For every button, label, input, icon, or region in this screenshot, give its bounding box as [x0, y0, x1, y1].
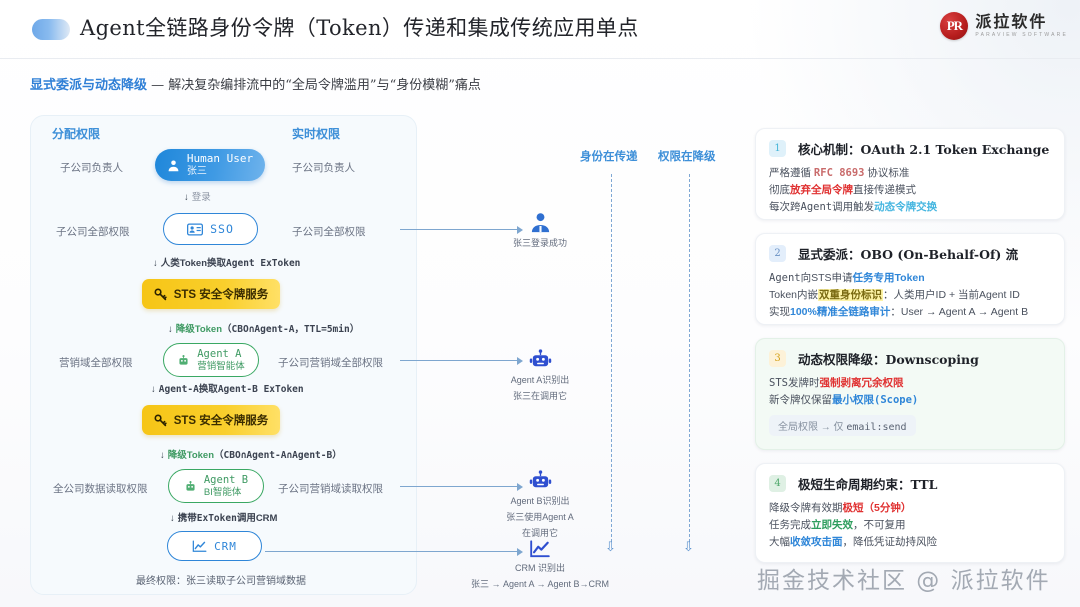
left-label-3: 全公司数据读取权限 — [53, 481, 148, 496]
robot-icon — [177, 354, 190, 367]
rail-scope — [689, 174, 690, 542]
left-label-0: 子公司负责人 — [60, 160, 123, 175]
id-card-icon — [187, 223, 203, 236]
node-sso-label: SSO — [210, 222, 234, 236]
event-agent-b-line-0: Agent B识别出 — [510, 495, 569, 508]
user-icon — [167, 159, 180, 172]
header-accent-dot — [32, 19, 70, 40]
event-agent-a-line-1: 张三在调用它 — [513, 390, 567, 403]
key-icon — [154, 414, 167, 427]
step-login: ↓登录 — [184, 189, 211, 203]
rail-identity — [611, 174, 612, 542]
card-1-header: 1 核心机制：OAuth 2.1 Token Exchange — [769, 139, 1051, 158]
right-label-2: 子公司营销域全部权限 — [278, 355, 383, 370]
card-1-badge: 1 — [769, 140, 786, 157]
right-label-0: 子公司负责人 — [292, 160, 355, 175]
robot-icon — [184, 480, 197, 493]
event-agent-b: Agent B识别出 张三使用Agent A 在调用它 — [492, 469, 588, 540]
event-login: 张三登录成功 — [505, 211, 575, 250]
subtitle: 显式委派与动态降级 — 解决复杂编排流中的“全局令牌滥用”与“身份模糊”痛点 — [30, 74, 481, 93]
event-agent-b-line-1: 张三使用Agent A — [506, 511, 574, 524]
card-4-line-2: 任务完成立即失效，不可复用 — [769, 517, 1051, 534]
node-crm-label: CRM — [214, 540, 237, 553]
node-human-user-title: Human User — [187, 152, 253, 165]
node-human-user[interactable]: Human User 张三 — [155, 149, 265, 181]
robot-icon — [529, 348, 552, 371]
event-agent-a: Agent A识别出 张三在调用它 — [500, 348, 580, 403]
card-explicit-delegation[interactable]: 2 显式委派：OBO (On-Behalf-Of) 流 Agent向STS申请任… — [755, 233, 1065, 325]
card-2-badge: 2 — [769, 245, 786, 262]
node-human-user-sub: 张三 — [187, 166, 207, 178]
watermark: 掘金技术社区 @ 派拉软件 — [757, 561, 1051, 595]
card-4-badge: 4 — [769, 475, 786, 492]
card-core-mechanism[interactable]: 1 核心机制：OAuth 2.1 Token Exchange 严格遵循 RFC… — [755, 128, 1065, 220]
left-label-1: 子公司全部权限 — [56, 224, 130, 239]
card-ttl[interactable]: 4 极短生命周期约束：TTL 降级令牌有效期极短（5分钟） 任务完成立即失效，不… — [755, 463, 1065, 563]
event-login-line-0: 张三登录成功 — [513, 237, 567, 250]
node-agent-b-title: Agent B — [204, 474, 248, 487]
node-sts-1[interactable]: STS 安全令牌服务 — [142, 279, 280, 309]
card-2-line-1: Agent向STS申请任务专用Token — [769, 270, 1051, 287]
logo-text: 派拉软件 PARAVIEW SOFTWARE — [975, 14, 1068, 38]
final-permission-note: 最终权限：张三读取子公司营销域数据 — [136, 572, 306, 587]
card-2-header: 2 显式委派：OBO (On-Behalf-Of) 流 — [769, 244, 1051, 263]
card-downscoping[interactable]: 3 动态权限降级：Downscoping STS发牌时强制剥离冗余权限 新令牌仅… — [755, 338, 1065, 450]
logo-mark-icon: PR — [940, 12, 968, 40]
event-agent-a-line-0: Agent A识别出 — [511, 374, 570, 387]
node-agent-a-sub: 营销智能体 — [197, 361, 245, 372]
robot-icon — [529, 469, 552, 492]
event-crm: CRM 识别出 张三 → Agent A → Agent B→CRM — [480, 540, 600, 591]
card-4-line-1: 降级令牌有效期极短（5分钟） — [769, 500, 1051, 517]
logo-name-cn: 派拉软件 — [975, 14, 1068, 30]
step-exchange-1: ↓人类Token换取Agent ExToken — [153, 255, 300, 269]
node-agent-b-sub: BI智能体 — [204, 487, 241, 498]
header: Agent全链路身份令牌（Token）传递和集成传统应用单点 PR 派拉软件 P… — [0, 0, 1080, 58]
right-label-1: 子公司全部权限 — [292, 224, 366, 239]
step-downscope-2: ↓降级Token（CBO∩Agent-A∩Agent-B） — [160, 447, 342, 461]
left-label-2: 营销域全部权限 — [59, 355, 133, 370]
node-sts-1-label: STS 安全令牌服务 — [174, 286, 269, 302]
subtitle-rest: — 解决复杂编排流中的“全局令牌滥用”与“身份模糊”痛点 — [151, 78, 481, 93]
card-1-line-3: 每次跨Agent调用触发动态令牌交换 — [769, 199, 1051, 216]
rail-header-identity: 身份在传递 — [580, 148, 638, 164]
header-divider — [0, 58, 1080, 59]
event-agent-b-line-2: 在调用它 — [522, 527, 558, 540]
step-exchange-2: ↓Agent-A换取Agent-B ExToken — [151, 381, 304, 395]
node-crm[interactable]: CRM — [167, 531, 262, 561]
card-1-line-2: 彻底放弃全局令牌直接传递模式 — [769, 182, 1051, 199]
event-crm-line-0: CRM 识别出 — [515, 562, 565, 575]
node-sso[interactable]: SSO — [163, 213, 258, 245]
card-4-line-3: 大幅收敛攻击面，降低凭证劫持风险 — [769, 534, 1051, 551]
subtitle-lead: 显式委派与动态降级 — [30, 78, 147, 93]
card-2-line-2: Token内嵌双重身份标识：人类用户ID + 当前Agent ID — [769, 287, 1051, 304]
card-3-header: 3 动态权限降级：Downscoping — [769, 349, 1051, 368]
rail-scope-arrow-icon: ⇩ — [683, 540, 694, 553]
node-sts-2-label: STS 安全令牌服务 — [174, 412, 269, 428]
card-1-line-1: 严格遵循 RFC 8693 协议标准 — [769, 165, 1051, 182]
step-call-crm: ↓携带ExToken调用CRM — [170, 510, 277, 524]
page-title: Agent全链路身份令牌（Token）传递和集成传统应用单点 — [80, 12, 639, 42]
logo-monogram: PR — [940, 12, 968, 40]
card-2-line-3: 实现100%精准全链路审计：User → Agent A → Agent B — [769, 304, 1051, 321]
flow-col-header-runtime: 实时权限 — [292, 125, 340, 142]
chart-icon — [192, 540, 207, 553]
node-agent-a-title: Agent A — [197, 348, 241, 361]
card-3-scope-chip: 全局权限 → 仅 email:send — [769, 415, 916, 436]
card-1-title: 核心机制：OAuth 2.1 Token Exchange — [798, 139, 1049, 158]
card-3-title: 动态权限降级：Downscoping — [798, 349, 979, 368]
node-sts-2[interactable]: STS 安全令牌服务 — [142, 405, 280, 435]
logo-name-en: PARAVIEW SOFTWARE — [975, 33, 1068, 38]
connector-1 — [400, 229, 518, 230]
event-crm-line-1: 张三 → Agent A → Agent B→CRM — [471, 578, 609, 591]
card-2-title: 显式委派：OBO (On-Behalf-Of) 流 — [798, 244, 1018, 263]
brand-logo: PR 派拉软件 PARAVIEW SOFTWARE — [940, 12, 1068, 40]
user-icon — [529, 211, 552, 234]
card-3-line-2: 新令牌仅保留最小权限(Scope) — [769, 392, 1051, 409]
node-agent-b[interactable]: Agent B BI智能体 — [168, 469, 264, 503]
card-3-line-1: STS发牌时强制剥离冗余权限 — [769, 375, 1051, 392]
node-agent-a[interactable]: Agent A 营销智能体 — [163, 343, 259, 377]
card-4-header: 4 极短生命周期约束：TTL — [769, 474, 1051, 493]
rail-header-scope: 权限在降级 — [658, 148, 716, 164]
card-3-badge: 3 — [769, 350, 786, 367]
card-4-title: 极短生命周期约束：TTL — [798, 474, 937, 493]
flow-col-header-assigned: 分配权限 — [52, 125, 100, 142]
key-icon — [154, 288, 167, 301]
rail-identity-arrow-icon: ⇩ — [605, 540, 616, 553]
chart-icon — [529, 540, 551, 559]
step-downscope-1: ↓降级Token（CBO∩Agent-A，TTL=5min） — [168, 321, 359, 335]
right-label-3: 子公司营销域读取权限 — [278, 481, 383, 496]
slide-canvas: Agent全链路身份令牌（Token）传递和集成传统应用单点 PR 派拉软件 P… — [0, 0, 1080, 607]
